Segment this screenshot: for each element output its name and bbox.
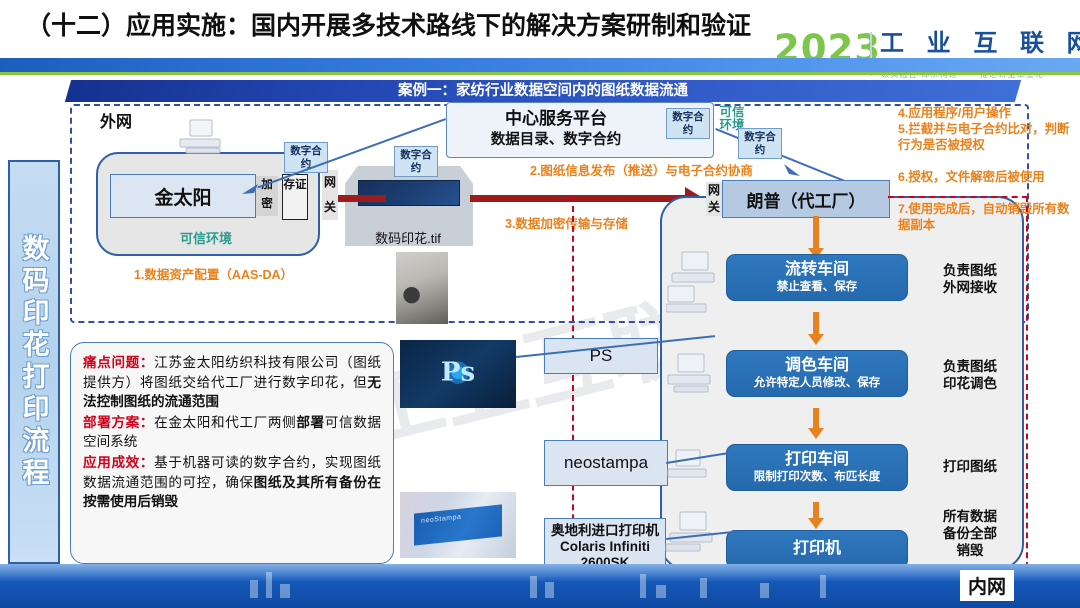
photo-photoshop: Ps: [400, 340, 516, 408]
workshop-note-1: 负责图纸 印花调色: [918, 358, 1022, 392]
right-annotation-0: 4.应用程序/用户操作: [898, 106, 1078, 122]
city-building: [250, 580, 258, 598]
callout-deploy-key: 部署方案：: [83, 415, 154, 430]
central-platform-title: 中心服务平台: [446, 104, 666, 129]
city-building: [545, 582, 554, 598]
case-banner-label: 案例一：家纺行业数据空间内的图纸数据流通: [68, 80, 1018, 102]
workshop-title-2: 打印车间: [727, 445, 907, 470]
digital-contract-chip-center: 数字合约: [666, 108, 710, 139]
software-box-neostampa: neostampa: [544, 440, 668, 486]
workshop-arrow-0: [813, 312, 819, 336]
city-building: [530, 576, 537, 598]
slide-root: （十二）应用实施：国内开展多技术路线下的解决方案研制和验证 2023 2023 …: [0, 0, 1080, 608]
gateway-outer: 网关: [322, 170, 338, 220]
destroy-path-top: [888, 196, 1028, 198]
contract-arrow-right-head: [782, 160, 802, 180]
city-building: [820, 575, 826, 598]
destroy-path-right: [1026, 196, 1028, 578]
outer-network-label: 外网: [100, 108, 132, 132]
city-building: [656, 585, 666, 598]
step-2-annotation: 2.图纸信息发布（推送）与电子合约协商: [530, 160, 753, 179]
workshop-arrowhead-0: [808, 334, 824, 345]
callout-deploy-text-a: 在金太阳和代工厂两侧: [154, 415, 296, 430]
workshop-arrow-1: [813, 408, 819, 430]
callout-deploy: 部署方案：在金太阳和代工厂两侧部署可信数据空间系统: [83, 413, 381, 452]
city-building: [280, 584, 290, 598]
photo-neostampa: neoStampa: [400, 492, 516, 558]
right-annotation-2: 6.授权，文件解密后被使用: [898, 170, 1078, 186]
gateway-inner: 网关: [706, 182, 722, 216]
workshop-note-2: 打印图纸: [918, 458, 1022, 475]
red-arrow-main: [470, 195, 685, 202]
city-building: [760, 583, 769, 598]
callout-deploy-text-b: 部署: [296, 415, 324, 430]
step-1-annotation: 1.数据资产配置（AAS-DA）: [134, 264, 293, 283]
digital-contract-chip-file: 数字合约: [394, 146, 438, 177]
inner-network-label: 内网: [960, 570, 1014, 601]
workshop-box-1: 调色车间 允许特定人员修改、保存: [726, 350, 908, 397]
vertical-process-title-label: 数码印花打印流程: [15, 234, 54, 490]
right-annotation-3: 7.使用完成后，自动销毁所有数据副本: [898, 202, 1078, 233]
workshop-sub-1: 允许特定人员修改、保存: [727, 376, 907, 396]
vertical-process-title: 数码印花打印流程: [8, 160, 60, 564]
workshop-arrowhead-1: [808, 428, 824, 439]
logo-name-cn: 工 业 互 联 网 大 会: [880, 31, 1080, 57]
callout-pain-key: 痛点问题：: [83, 355, 154, 370]
workshop-sub-2: 限制打印次数、布匹长度: [727, 470, 907, 490]
red-arrow-left: [338, 195, 386, 202]
page-title: （十二）应用实施：国内开展多技术路线下的解决方案研制和验证: [26, 6, 826, 42]
bottom-city-band: [0, 564, 1080, 608]
jintaiyang-env-label: 可信环境: [96, 228, 316, 247]
file-name-label: 数码印花.tif: [338, 228, 478, 247]
header-green-line: [0, 72, 1080, 75]
city-building: [640, 574, 646, 598]
callout-effect-key: 应用成效：: [83, 455, 154, 470]
contract-arrow-left-head: [240, 180, 260, 200]
workshop-note-0: 负责图纸 外网接收: [918, 262, 1022, 296]
callout-pain: 痛点问题：江苏金太阳纺织科技有限公司（图纸提供方）将图纸交给代工厂进行数字印花，…: [83, 353, 381, 412]
right-annotation-1: 5.拦截并与电子合约比对，判断行为是否被授权: [898, 122, 1078, 153]
header-blue-bar: [0, 58, 1080, 72]
city-building: [266, 572, 272, 598]
neostampa-card: neoStampa: [414, 505, 502, 546]
software-label-neostampa: neostampa: [564, 453, 648, 473]
city-sky-gradient: [0, 564, 1080, 582]
central-platform-subtitle: 数据目录、数字合约: [446, 128, 666, 149]
computer-icon-wf0: [666, 250, 726, 316]
design-file-thumbnail: [358, 180, 460, 206]
workshop-title-0: 流转车间: [727, 255, 907, 280]
callout-effect: 应用成效：基于机器可读的数字合约，实现图纸数据流通范围的可控，确保图纸及其所有备…: [83, 453, 381, 512]
workshop-sub-0: 禁止查看、保存: [727, 280, 907, 300]
jintaiyang-box: 金太阳: [110, 174, 256, 218]
workshop-arrowhead-2: [808, 518, 824, 529]
workshop-title-1: 调色车间: [727, 351, 907, 376]
case-callout: 痛点问题：江苏金太阳纺织科技有限公司（图纸提供方）将图纸交给代工厂进行数字印花，…: [70, 342, 394, 564]
computer-icon-wf1: [666, 352, 722, 396]
workshop-title-3: 打印机: [727, 531, 907, 568]
factory-to-workshop-line: [813, 216, 819, 250]
city-building: [700, 578, 707, 598]
photoshop-icon: Ps: [441, 357, 475, 387]
evidence-chip: 存证: [282, 174, 308, 220]
workshop-box-0: 流转车间 禁止查看、保存: [726, 254, 908, 301]
workshop-note-3: 所有数据 备份全部 销毁: [918, 508, 1022, 559]
step-3-annotation: 3.数据加密传输与存储: [505, 213, 628, 232]
computer-icon: [176, 118, 232, 156]
photo-workstation: [396, 252, 448, 324]
factory-box: 朗普（代工厂）: [722, 180, 890, 218]
digital-contract-chip-factory: 数字合约: [738, 128, 782, 159]
workshop-box-2: 打印车间 限制打印次数、布匹长度: [726, 444, 908, 491]
